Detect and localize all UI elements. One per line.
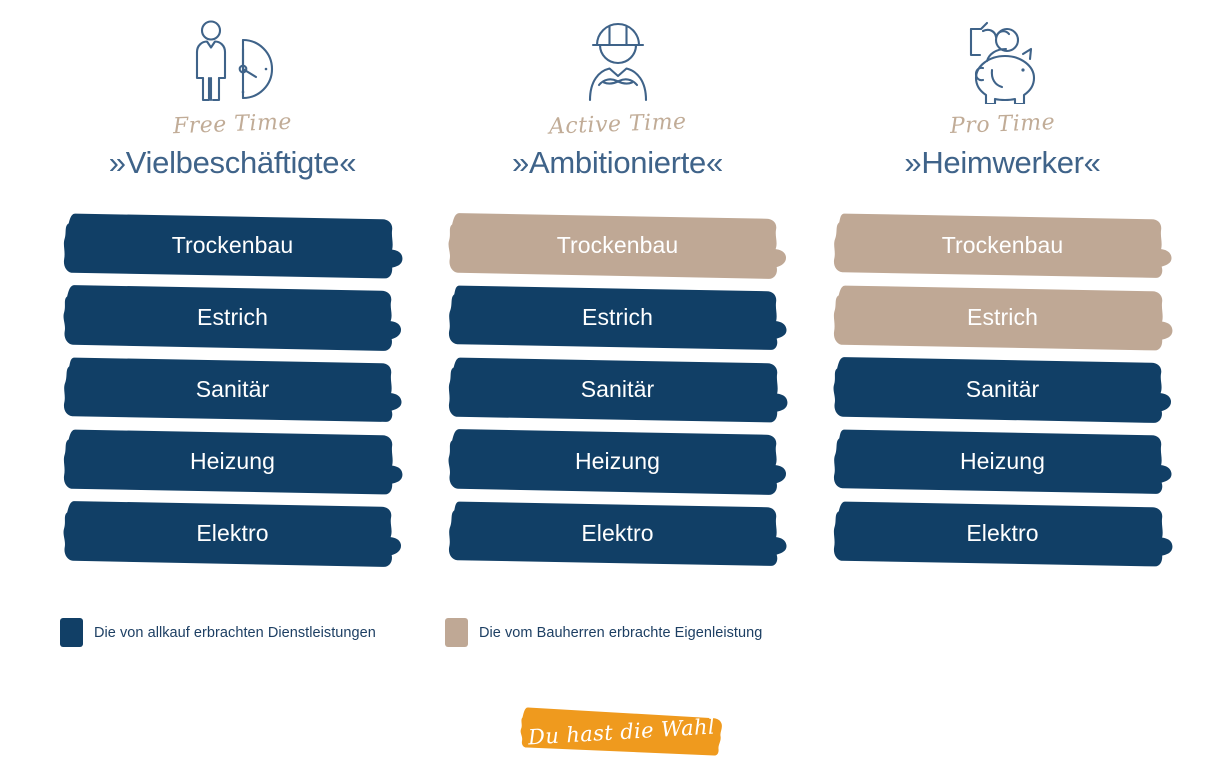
legend-item-owner: Die vom Bauherren erbrachte Eigenleistun…	[445, 618, 762, 647]
bar-brush-shape	[829, 210, 1177, 282]
bar-brush-shape	[444, 282, 792, 354]
bar-brush-shape	[829, 282, 1177, 354]
service-bar[interactable]: Trockenbau	[444, 210, 792, 282]
legend-label-owner: Die vom Bauherren erbrachte Eigenleistun…	[479, 625, 762, 641]
service-bar[interactable]: Sanitär	[59, 354, 407, 426]
service-bar[interactable]: Sanitär	[444, 354, 792, 426]
bar-brush-shape	[829, 354, 1177, 426]
person-with-clock-icon	[187, 8, 279, 104]
piggy-bank-icon	[961, 8, 1045, 104]
bar-brush-shape	[59, 210, 407, 282]
package-script-label: Pro Time	[950, 112, 1056, 138]
service-bar[interactable]: Heizung	[444, 426, 792, 498]
package-title: »Vielbeschäftigte«	[109, 145, 356, 181]
bar-brush-shape	[59, 426, 407, 498]
bar-brush-shape	[444, 354, 792, 426]
service-bar[interactable]: Elektro	[444, 498, 792, 570]
bar-brush-shape	[444, 426, 792, 498]
legend: Die von allkauf erbrachten Dienstleistun…	[60, 618, 762, 647]
package-script-label: Free Time	[173, 112, 293, 139]
package-script-label: Active Time	[548, 111, 686, 138]
package-column-vielbeschaeftigte: Free Time »Vielbeschäftigte« TrockenbauE…	[55, 0, 410, 570]
service-bar-list: TrockenbauEstrichSanitärHeizungElektro	[829, 210, 1177, 570]
package-column-ambitionierte: Active Time »Ambitionierte« TrockenbauEs…	[440, 0, 795, 570]
bar-brush-shape	[444, 210, 792, 282]
package-title: »Heimwerker«	[904, 145, 1100, 181]
bar-brush-shape	[829, 426, 1177, 498]
service-bar[interactable]: Sanitär	[829, 354, 1177, 426]
bar-brush-shape	[829, 498, 1177, 570]
service-bar[interactable]: Heizung	[829, 426, 1177, 498]
package-column-heimwerker: Pro Time »Heimwerker« TrockenbauEstrichS…	[825, 0, 1180, 570]
service-bar-list: TrockenbauEstrichSanitärHeizungElektro	[59, 210, 407, 570]
service-bar[interactable]: Estrich	[59, 282, 407, 354]
bar-brush-shape	[444, 498, 792, 570]
legend-label-service: Die von allkauf erbrachten Dienstleistun…	[94, 625, 376, 641]
service-bar[interactable]: Elektro	[59, 498, 407, 570]
legend-swatch-service	[60, 618, 83, 647]
service-bar[interactable]: Heizung	[59, 426, 407, 498]
construction-worker-icon	[580, 8, 656, 104]
bar-brush-shape	[59, 498, 407, 570]
bar-brush-shape	[59, 354, 407, 426]
service-bar-list: TrockenbauEstrichSanitärHeizungElektro	[444, 210, 792, 570]
package-columns: Free Time »Vielbeschäftigte« TrockenbauE…	[0, 0, 1228, 570]
service-bar[interactable]: Trockenbau	[59, 210, 407, 282]
legend-item-service: Die von allkauf erbrachten Dienstleistun…	[60, 618, 445, 647]
choice-badge: Du hast die Wahl	[518, 703, 725, 759]
legend-swatch-owner	[445, 618, 468, 647]
bar-brush-shape	[59, 282, 407, 354]
service-bar[interactable]: Trockenbau	[829, 210, 1177, 282]
package-title: »Ambitionierte«	[512, 145, 723, 181]
badge-brush-shape	[518, 703, 725, 759]
service-comparison-page: Free Time »Vielbeschäftigte« TrockenbauE…	[0, 0, 1228, 783]
service-bar[interactable]: Elektro	[829, 498, 1177, 570]
service-bar[interactable]: Estrich	[444, 282, 792, 354]
service-bar[interactable]: Estrich	[829, 282, 1177, 354]
